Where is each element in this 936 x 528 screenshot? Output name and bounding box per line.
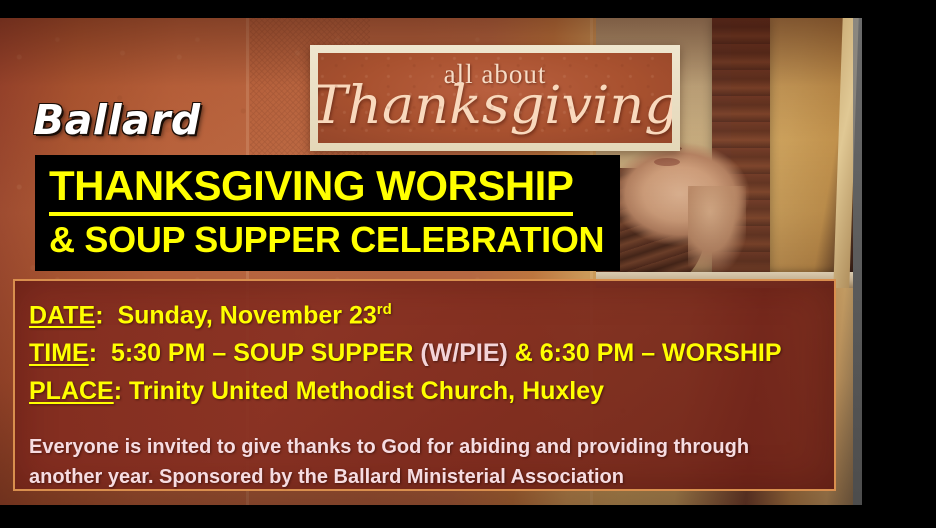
date-value: Sunday, November 23 — [117, 301, 376, 329]
time-label: TIME — [29, 339, 89, 367]
letterbox-top — [0, 0, 936, 18]
presentation-slide: all about Thanksgiving Ballard Community… — [0, 0, 936, 528]
detail-row-date: DATE: Sunday, November 23rd — [29, 291, 834, 334]
place-label: PLACE — [29, 377, 114, 405]
banner-line-1: all about — [318, 59, 672, 90]
headline-band: THANKSGIVING WORSHIP & SOUP SUPPER CELEB… — [35, 155, 620, 271]
invitation-blurb: Everyone is invited to give thanks to Go… — [29, 432, 819, 492]
time-separator: : — [89, 339, 97, 367]
banner-line-2: Thanksgiving — [318, 77, 672, 135]
right-gray-edge — [853, 18, 862, 505]
all-about-thanksgiving-banner: all about Thanksgiving — [310, 45, 680, 151]
time-pie-note: (W/PIE) — [420, 339, 508, 367]
place-separator: : — [114, 377, 122, 405]
headline-primary: THANKSGIVING WORSHIP — [49, 162, 573, 216]
detail-row-time: TIME: 5:30 PM – SOUP SUPPER (W/PIE) & 6:… — [29, 334, 834, 372]
headline-secondary: & SOUP SUPPER CELEBRATION — [49, 218, 604, 262]
time-value-after: & 6:30 PM – WORSHIP — [508, 339, 782, 367]
letterbox-right — [862, 0, 936, 528]
date-separator: : — [95, 301, 103, 329]
detail-row-place: PLACE: Trinity United Methodist Church, … — [29, 372, 834, 410]
banner-inner-panel: all about Thanksgiving — [318, 53, 672, 143]
letterbox-bottom — [0, 505, 936, 528]
organization-line-1: Ballard — [33, 96, 201, 144]
time-value-before: 5:30 PM – SOUP SUPPER — [111, 339, 420, 367]
place-value: Trinity United Methodist Church, Huxley — [129, 377, 604, 405]
date-superscript: rd — [377, 301, 392, 318]
date-label: DATE — [29, 301, 95, 329]
event-details-box: DATE: Sunday, November 23rd TIME: 5:30 P… — [13, 279, 836, 491]
